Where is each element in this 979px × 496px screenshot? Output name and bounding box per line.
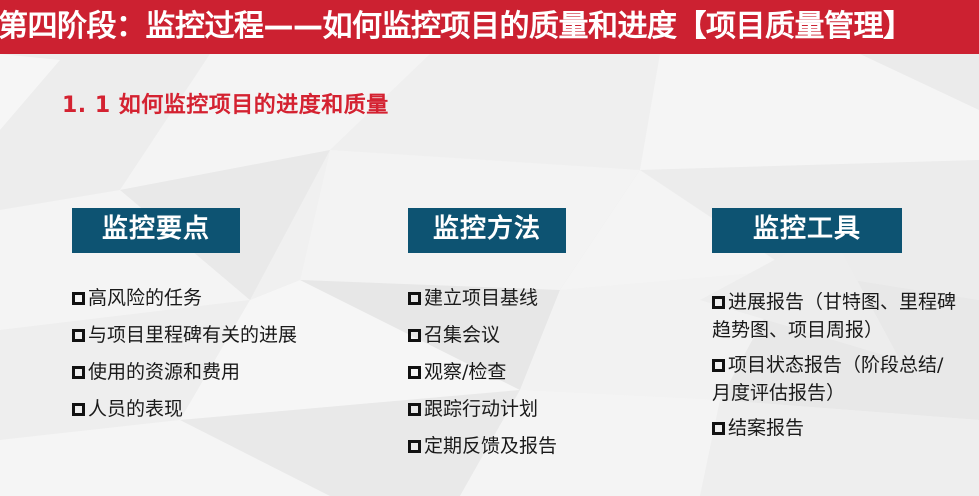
hollow-square-bullet-icon [72, 292, 85, 305]
slide-canvas: 第四阶段：监控过程——如何监控项目的质量和进度【项目质量管理】 1. 1 如何监… [0, 0, 979, 496]
list-item-label: 结案报告 [728, 417, 804, 439]
list-item-label: 人员的表现 [88, 398, 183, 420]
list-item: 进展报告（甘特图、里程碑趋势图、项目周报） [712, 289, 962, 344]
list-item: 定期反馈及报告 [408, 437, 688, 456]
hollow-square-bullet-icon [72, 403, 85, 416]
hollow-square-bullet-icon [408, 329, 421, 342]
hollow-square-bullet-icon [72, 329, 85, 342]
bullet-list: 建立项目基线 召集会议 观察/检查 跟踪行动计划 定期反馈及报告 [408, 289, 688, 456]
content-column-monitoring-tools: 监控工具 进展报告（甘特图、里程碑趋势图、项目周报） 项目状态报告（阶段总结/月… [712, 208, 962, 451]
list-item-label: 定期反馈及报告 [424, 435, 557, 457]
hollow-square-bullet-icon [408, 292, 421, 305]
hollow-square-bullet-icon [408, 440, 421, 453]
list-item: 结案报告 [712, 415, 962, 443]
column-header-box: 监控方法 [408, 208, 566, 253]
bullet-list: 进展报告（甘特图、里程碑趋势图、项目周报） 项目状态报告（阶段总结/月度评估报告… [712, 289, 962, 443]
title-bar: 第四阶段：监控过程——如何监控项目的质量和进度【项目质量管理】 [0, 0, 979, 54]
list-item-label: 跟踪行动计划 [424, 398, 538, 420]
list-item-label: 建立项目基线 [424, 287, 538, 309]
list-item-label: 项目状态报告（阶段总结/月度评估报告） [712, 354, 943, 404]
list-item: 使用的资源和费用 [72, 363, 372, 382]
list-item: 观察/检查 [408, 363, 688, 382]
list-item: 召集会议 [408, 326, 688, 345]
bullet-list: 高风险的任务 与项目里程碑有关的进展 使用的资源和费用 人员的表现 [72, 289, 372, 419]
page-title: 第四阶段：监控过程——如何监控项目的质量和进度【项目质量管理】 [0, 12, 913, 42]
column-header-box: 监控要点 [72, 208, 240, 253]
list-item-label: 进展报告（甘特图、里程碑趋势图、项目周报） [712, 291, 956, 341]
hollow-square-bullet-icon [72, 366, 85, 379]
list-item-label: 与项目里程碑有关的进展 [88, 324, 297, 346]
list-item: 跟踪行动计划 [408, 400, 688, 419]
list-item: 建立项目基线 [408, 289, 688, 308]
content-column-monitoring-points: 监控要点 高风险的任务 与项目里程碑有关的进展 使用的资源和费用 人员的表现 [72, 208, 372, 437]
list-item: 高风险的任务 [72, 289, 372, 308]
list-item-label: 观察/检查 [424, 361, 506, 383]
column-header-box: 监控工具 [712, 208, 902, 253]
list-item-label: 使用的资源和费用 [88, 361, 240, 383]
hollow-square-bullet-icon [712, 359, 725, 372]
list-item-label: 高风险的任务 [88, 287, 202, 309]
content-column-monitoring-methods: 监控方法 建立项目基线 召集会议 观察/检查 跟踪行动计划 定期反馈及报告 [408, 208, 688, 474]
hollow-square-bullet-icon [712, 422, 725, 435]
list-item: 人员的表现 [72, 400, 372, 419]
hollow-square-bullet-icon [408, 366, 421, 379]
list-item: 项目状态报告（阶段总结/月度评估报告） [712, 352, 962, 407]
list-item: 与项目里程碑有关的进展 [72, 326, 372, 345]
hollow-square-bullet-icon [712, 296, 725, 309]
section-subtitle: 1. 1 如何监控项目的进度和质量 [62, 87, 389, 119]
list-item-label: 召集会议 [424, 324, 500, 346]
hollow-square-bullet-icon [408, 403, 421, 416]
